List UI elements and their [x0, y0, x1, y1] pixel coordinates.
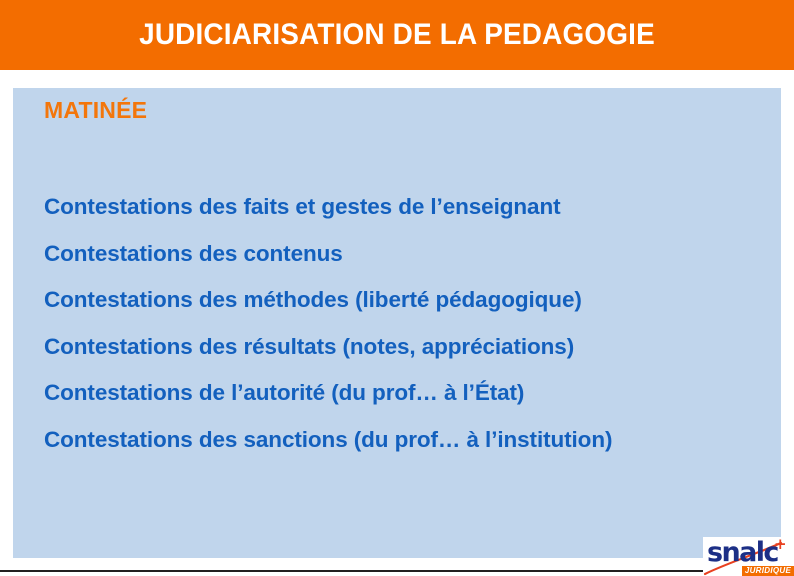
snalc-logo: snalc + JURIDIQUE — [703, 537, 794, 576]
slide: JUDICIARISATION DE LA PEDAGOGIE MATINÉE … — [0, 0, 794, 576]
list-item: Contestations des méthodes (liberté péda… — [44, 277, 764, 324]
list-item: Contestations des résultats (notes, appr… — [44, 324, 764, 371]
logo-subtitle: JURIDIQUE — [742, 566, 794, 576]
bullet-list: Contestations des faits et gestes de l’e… — [44, 184, 764, 463]
bottom-divider — [0, 570, 794, 572]
section-label-matinee: MATINÉE — [44, 97, 147, 124]
list-item: Contestations de l’autorité (du prof… à … — [44, 370, 764, 417]
page-title: JUDICIARISATION DE LA PEDAGOGIE — [28, 0, 766, 70]
title-band: JUDICIARISATION DE LA PEDAGOGIE — [0, 0, 794, 70]
list-item: Contestations des sanctions (du prof… à … — [44, 417, 764, 464]
logo-plus-icon: + — [774, 537, 787, 552]
list-item: Contestations des faits et gestes de l’e… — [44, 184, 764, 231]
content-panel: MATINÉE Contestations des faits et geste… — [13, 88, 781, 558]
list-item: Contestations des contenus — [44, 231, 764, 278]
logo-wordmark: snalc — [707, 538, 778, 568]
